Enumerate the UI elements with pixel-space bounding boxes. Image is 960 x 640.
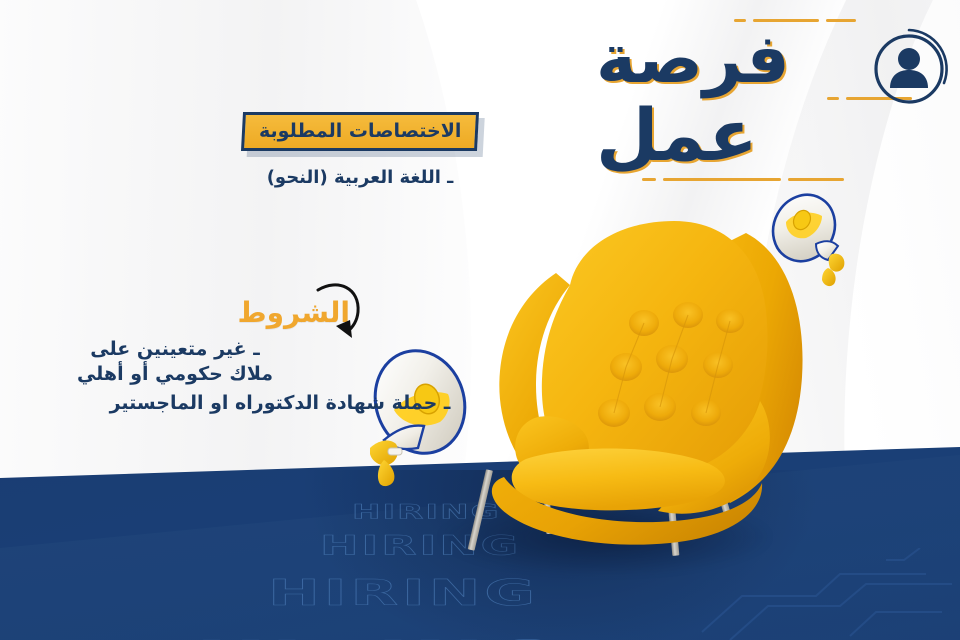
conditions-list: ـ غير متعينين على ملاك حكومي أو أهلي ـ ح…: [10, 337, 400, 416]
dash: [788, 178, 844, 181]
specializations-banner: الاختصاصات المطلوبة: [241, 112, 479, 151]
dash: [663, 178, 781, 181]
specializations-banner-label: الاختصاصات المطلوبة: [259, 120, 461, 142]
headline-line-1: فرصة: [596, 26, 850, 94]
specialization-item: ـ اللغة العربية (النحو): [230, 167, 490, 188]
megaphone-icon: [758, 192, 866, 296]
dash: [827, 97, 839, 100]
headline-line-2: عمل: [596, 99, 840, 171]
dash: [826, 19, 856, 22]
person-in-circle-icon: [866, 26, 952, 112]
condition-item: ملاك حكومي أو أهلي: [10, 362, 400, 387]
specializations-block: الاختصاصات المطلوبة ـ اللغة العربية (الن…: [230, 112, 490, 188]
job-opportunity-poster: HIRING HIRING HIRING HIRING: [0, 0, 960, 640]
dash: [642, 178, 656, 181]
conditions-block: الشروط ـ غير متعينين على ملاك حكومي أو أ…: [10, 296, 400, 416]
condition-item: ـ حملة شهادة الدكتوراه او الماجستير: [10, 391, 550, 416]
circuit-decoration: [690, 548, 960, 640]
curved-arrow-icon: [312, 278, 372, 346]
